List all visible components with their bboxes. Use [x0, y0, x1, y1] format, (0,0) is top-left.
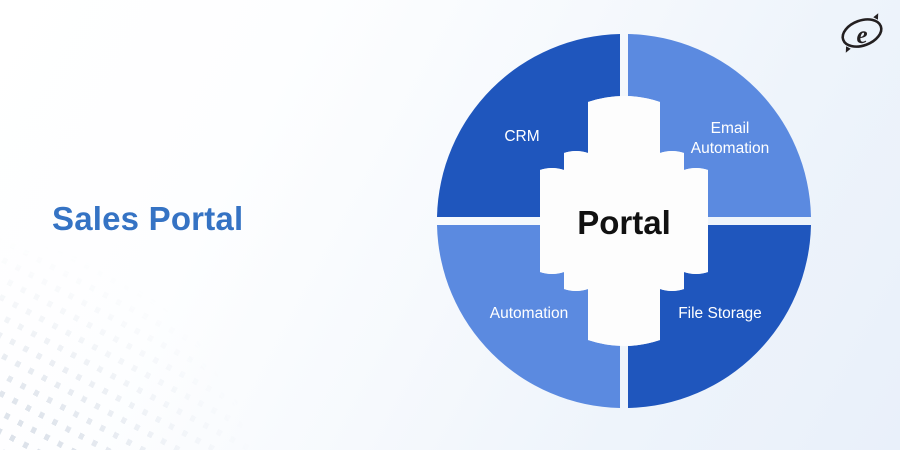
page-title: Sales Portal	[52, 200, 243, 238]
portal-hub-label: Portal	[577, 204, 671, 241]
label-automation: Automation	[490, 305, 568, 322]
label-email-automation-line1: Email	[711, 120, 750, 137]
logo-letter: e	[856, 22, 867, 49]
portal-donut-diagram: Portal CRM Email Automation File Storage…	[433, 30, 815, 412]
slide-canvas: Sales Portal e	[0, 0, 900, 450]
e-logo: e	[838, 11, 886, 56]
label-file-storage: File Storage	[678, 305, 762, 322]
label-email-automation-line2: Automation	[691, 140, 769, 157]
label-crm: CRM	[504, 128, 539, 145]
